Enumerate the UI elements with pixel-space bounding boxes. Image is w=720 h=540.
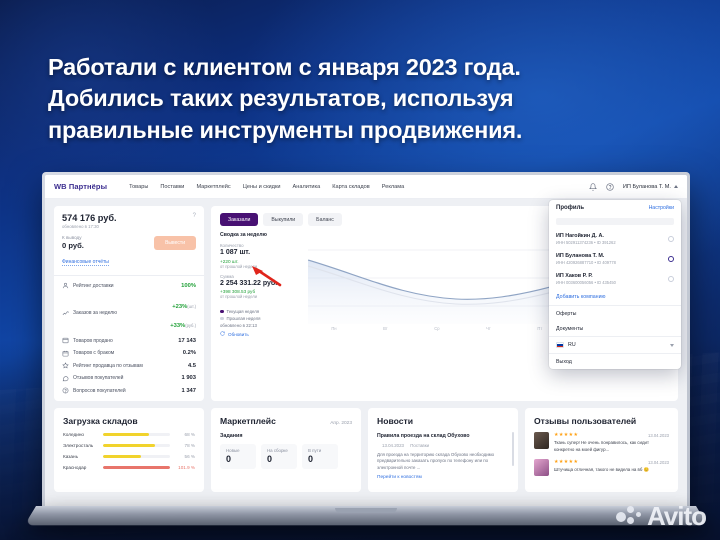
metric-label: Отзывов покупателей (73, 375, 177, 381)
review-thumbnail (534, 459, 549, 476)
warehouse-bar (103, 466, 170, 469)
settings-link[interactable]: Настройки (649, 205, 674, 211)
review-date: 13.04.2023 (648, 460, 669, 465)
balance-updated: обновлено в 17:30 (62, 224, 196, 229)
legend-dot-icon (220, 317, 224, 321)
metric-value: 4.5 (188, 363, 196, 369)
qty-value: 1 087 шт. (220, 249, 304, 256)
metric-value: 1 347 (181, 388, 196, 394)
warehouse-row: Казань 56 % (63, 454, 195, 459)
metric-label: Вопросов покупателей (73, 388, 177, 394)
review-thumbnail (534, 432, 549, 449)
laptop-screen-frame: WB Партнёры Товары Поставки Маркетплейс … (42, 172, 690, 512)
warehouse-row: Краснодар 101.9 % (63, 465, 195, 470)
refresh-label: Обновить (228, 332, 249, 337)
brand-logo[interactable]: WB Партнёры (54, 182, 107, 191)
metric-label: Товаров продано (73, 338, 174, 344)
nav-item-warehouse-map[interactable]: Карта складов (332, 184, 370, 190)
metric-unit: (шт.) (187, 304, 196, 309)
tab-bought[interactable]: Выкупили (263, 213, 303, 226)
task-count: 0 (267, 454, 291, 464)
task-box-in-transit[interactable]: В пути 0 (302, 444, 338, 469)
metric-weekly-orders: Заказов за неделю +23%(шт.) +33%(руб.) (62, 295, 196, 332)
warehouse-row: Коледино 68 % (63, 432, 195, 437)
warehouse-pct: 78 % (174, 443, 195, 448)
metric-seller-rating: Рейтинг продавца по отзывам 4.5 (62, 362, 196, 369)
card-title: Загрузка складов (63, 416, 195, 426)
dropdown-header: Профиль Настройки (549, 200, 681, 215)
withdraw-row: К выводу 0 руб. Вывести (62, 235, 196, 250)
avito-dots-icon (616, 506, 642, 528)
headline-line-1: Работали с клиентом с января 2023 года. (48, 52, 688, 83)
review-item[interactable]: ★★★★★ 13.04.2023 Ткань супер! Не очень п… (534, 432, 669, 453)
metric-reviews: Отзывов покупателей 1 903 (62, 375, 196, 382)
tasks-label: Задания (220, 433, 352, 439)
nav-item-goods[interactable]: Товары (129, 184, 148, 190)
metric-label: Рейтинг доставки (73, 283, 177, 289)
stats-card: ? 574 176 руб. обновлено в 17:30 К вывод… (54, 206, 204, 401)
trend-icon (62, 310, 69, 317)
x-tick: Ср (434, 326, 439, 331)
account-meta: ИНН 420926887710 • ID 409778 (556, 260, 664, 265)
review-text: Штучища отличная, такого не видела на вб… (554, 467, 669, 474)
account-meta: ИНН 003600056056 • ID 435450 (556, 280, 664, 285)
legend-previous-week: Прошлая неделя (220, 316, 304, 321)
card-header: Маркетплейс Апр. 2023 (220, 416, 352, 426)
account-name: ИП Буланова Т. М. (556, 253, 664, 259)
task-box-new[interactable]: Новые 0 (220, 444, 256, 469)
calendar-icon (62, 350, 69, 357)
metric-label: Рейтинг продавца по отзывам (73, 363, 184, 369)
legend-dot-icon (220, 310, 224, 314)
metric-goods-sold: Товаров продано 17 143 (62, 337, 196, 344)
tab-balance[interactable]: Баланс (308, 213, 342, 226)
person-icon (62, 282, 69, 289)
legend-updated: обновлено в 22:13 (220, 323, 304, 328)
metric-label: Товаров с браком (73, 350, 179, 356)
sum-note: от прошлой недели (220, 294, 304, 299)
warehouse-name: Электросталь (63, 443, 99, 448)
summary-title: Сводка за неделю (220, 232, 304, 238)
headline-line-2: Добились таких результатов, используя (48, 83, 688, 114)
account-item-3[interactable]: ИП Хаков Р. Р. ИНН 003600056056 • ID 435… (549, 269, 681, 289)
news-body: Для проезда на территорию склада Обухово… (377, 452, 509, 472)
x-tick: Пт (537, 326, 542, 331)
warehouses-card: Загрузка складов Коледино 68 % Электрост… (54, 408, 204, 492)
headline-line-3: правильные инструменты продвижения. (48, 115, 688, 146)
account-item-1[interactable]: ИП Нагойкин Д. А. ИНН 502911374236 • ID … (549, 229, 681, 249)
flag-ru-icon (556, 342, 564, 348)
star-icon (62, 362, 69, 369)
navbar-right: ИП Буланова Т. М. (589, 182, 678, 191)
dashboard-bottom-row: Загрузка складов Коледино 68 % Электрост… (54, 408, 678, 492)
rating-stars-icon: ★★★★★ (554, 432, 578, 438)
nav-items: Товары Поставки Маркетплейс Цены и скидк… (129, 184, 404, 190)
task-label: На сборке (267, 448, 291, 453)
review-item[interactable]: ★★★★★ 13.04.2023 Штучища отличная, таког… (534, 459, 669, 476)
metric-unit-2: (руб.) (185, 323, 196, 328)
warehouse-pct: 56 % (174, 454, 195, 459)
card-title: Новости (377, 416, 509, 426)
box-icon (62, 337, 69, 344)
add-company-link[interactable]: Добавить компанию (549, 289, 681, 305)
task-label: Новые (226, 448, 250, 453)
legend-current-week: Текущая неделя (220, 309, 304, 314)
financial-reports-link[interactable]: Финансовые отчёты (62, 259, 109, 266)
legend-updated-label: обновлено в 22:13 (220, 323, 257, 328)
metric-value: 17 143 (178, 338, 196, 344)
navbar: WB Партнёры Товары Поставки Маркетплейс … (45, 175, 687, 199)
language-selector[interactable]: RU (549, 337, 681, 353)
x-tick: Чт (486, 326, 491, 331)
dropdown-title: Профиль (556, 205, 584, 211)
account-name: ИП Хаков Р. Р. (556, 273, 664, 279)
task-count: 0 (308, 454, 332, 464)
reviews-card: Отзывы пользователей ★★★★★ 13.04.2023 Тк… (525, 408, 678, 492)
qty-note: от прошлой недели (220, 264, 304, 269)
task-label: В пути (308, 448, 332, 453)
nav-item-analytics[interactable]: Аналитика (293, 184, 321, 190)
profile-dropdown[interactable]: Профиль Настройки ИП Нагойкин Д. А. ИНН … (549, 200, 681, 369)
metric-value-2: +33% (170, 323, 185, 329)
language-label: RU (568, 342, 576, 348)
warehouse-name: Коледино (63, 432, 99, 437)
warehouse-pct: 101.9 % (174, 465, 195, 470)
bell-icon[interactable] (589, 182, 598, 191)
news-scrollbar[interactable] (512, 432, 514, 466)
news-category: Поставки (410, 443, 429, 448)
account-meta: ИНН 502911374236 • ID 391262 (556, 240, 664, 245)
news-date: 13.04.2023 (382, 443, 404, 448)
chevron-down-icon (670, 344, 674, 347)
task-boxes: Новые 0 На сборке 0 В пути 0 (220, 444, 352, 469)
marketplace-card: Маркетплейс Апр. 2023 Задания Новые 0 На… (211, 408, 361, 492)
warehouse-pct: 68 % (174, 432, 195, 437)
logout-item[interactable]: Выход (549, 354, 681, 369)
metric-value: 100% (181, 283, 196, 289)
account-radio-selected[interactable] (668, 256, 674, 262)
account-radio[interactable] (668, 236, 674, 242)
metric-value: +23% (172, 304, 187, 310)
nav-item-supplies[interactable]: Поставки (160, 184, 184, 190)
offers-item[interactable]: Оферты (549, 306, 681, 321)
card-title: Отзывы пользователей (534, 416, 669, 426)
account-radio[interactable] (668, 276, 674, 282)
tab-ordered[interactable]: Заказали (220, 213, 258, 226)
account-name: ИП Буланова Т. М. (623, 184, 671, 190)
laptop-mockup: WB Партнёры Товары Поставки Маркетплейс … (36, 172, 696, 524)
legend-label: Прошлая неделя (227, 316, 261, 321)
refresh-button[interactable]: Обновить (220, 331, 304, 337)
task-count: 0 (226, 454, 250, 464)
withdraw-label: К выводу (62, 235, 84, 240)
news-link[interactable]: Перейти к новостям (377, 475, 509, 480)
task-box-assembling[interactable]: На сборке 0 (261, 444, 297, 469)
warehouse-bar (103, 444, 170, 447)
help-icon[interactable] (606, 182, 615, 191)
withdraw-value: 0 руб. (62, 241, 84, 250)
news-card: Новости Правила проезда на склад Обухово… (368, 408, 518, 492)
review-date: 13.04.2023 (648, 433, 669, 438)
chart-summary: Сводка за неделю Количество 1 087 шт. +2… (220, 232, 304, 337)
account-switcher[interactable]: ИП Буланова Т. М. (623, 184, 678, 190)
page-title: Работали с клиентом с января 2023 года. … (48, 52, 688, 146)
comment-icon (62, 375, 69, 382)
warehouse-row: Электросталь 78 % (63, 443, 195, 448)
sum-value: 2 254 331.22 руб. (220, 280, 304, 287)
documents-item[interactable]: Документы (549, 321, 681, 336)
nav-item-marketplace[interactable]: Маркетплейс (196, 184, 230, 190)
avito-watermark: Avito (616, 501, 706, 532)
warehouse-name: Казань (63, 454, 99, 459)
question-icon[interactable]: ? (193, 213, 196, 219)
laptop-notch (335, 508, 397, 513)
qty-label: Количество (220, 243, 304, 248)
metric-questions: Вопросов покупателей 1 347 (62, 387, 196, 394)
nav-item-prices[interactable]: Цены и скидки (243, 184, 281, 190)
avito-label: Avito (647, 501, 706, 532)
x-tick: Пн (331, 326, 336, 331)
metric-delivery-rating: Рейтинг доставки 100% (62, 282, 196, 289)
balance-value: 574 176 руб. (62, 213, 196, 223)
card-title: Маркетплейс (220, 416, 276, 426)
rating-stars-icon: ★★★★★ (554, 459, 578, 465)
account-name: ИП Нагойкин Д. А. (556, 233, 664, 239)
chart-legend: Текущая неделя Прошлая неделя обновлено … (220, 309, 304, 337)
sum-label: Сумма (220, 274, 304, 279)
metric-defective-goods: Товаров с браком 0.2% (62, 350, 196, 357)
question-circle-icon (62, 387, 69, 394)
news-headline[interactable]: Правила проезда на склад Обухово (377, 433, 509, 440)
metric-value: 0.2% (183, 350, 196, 356)
metric-label: Заказов за неделю (73, 310, 166, 316)
warehouse-name: Краснодар (63, 465, 99, 470)
x-tick: Вт (383, 326, 387, 331)
legend-label: Текущая неделя (227, 309, 260, 314)
account-search[interactable] (549, 215, 681, 229)
warehouse-bar (103, 433, 170, 436)
chevron-up-icon (674, 185, 678, 188)
refresh-icon (220, 331, 225, 337)
account-item-2[interactable]: ИП Буланова Т. М. ИНН 420926887710 • ID … (549, 249, 681, 269)
card-date: Апр. 2023 (330, 421, 352, 426)
dashboard-screenshot: WB Партнёры Товары Поставки Маркетплейс … (45, 175, 687, 512)
divider (54, 275, 204, 276)
news-meta: 13.04.2023 Поставки (377, 443, 509, 448)
review-text: Ткань супер! Не очень понравилось, как с… (554, 440, 669, 453)
withdraw-button[interactable]: Вывести (154, 236, 196, 250)
metric-value: 1 903 (181, 375, 196, 381)
warehouse-bar (103, 455, 170, 458)
nav-item-advertising[interactable]: Реклама (382, 184, 404, 190)
